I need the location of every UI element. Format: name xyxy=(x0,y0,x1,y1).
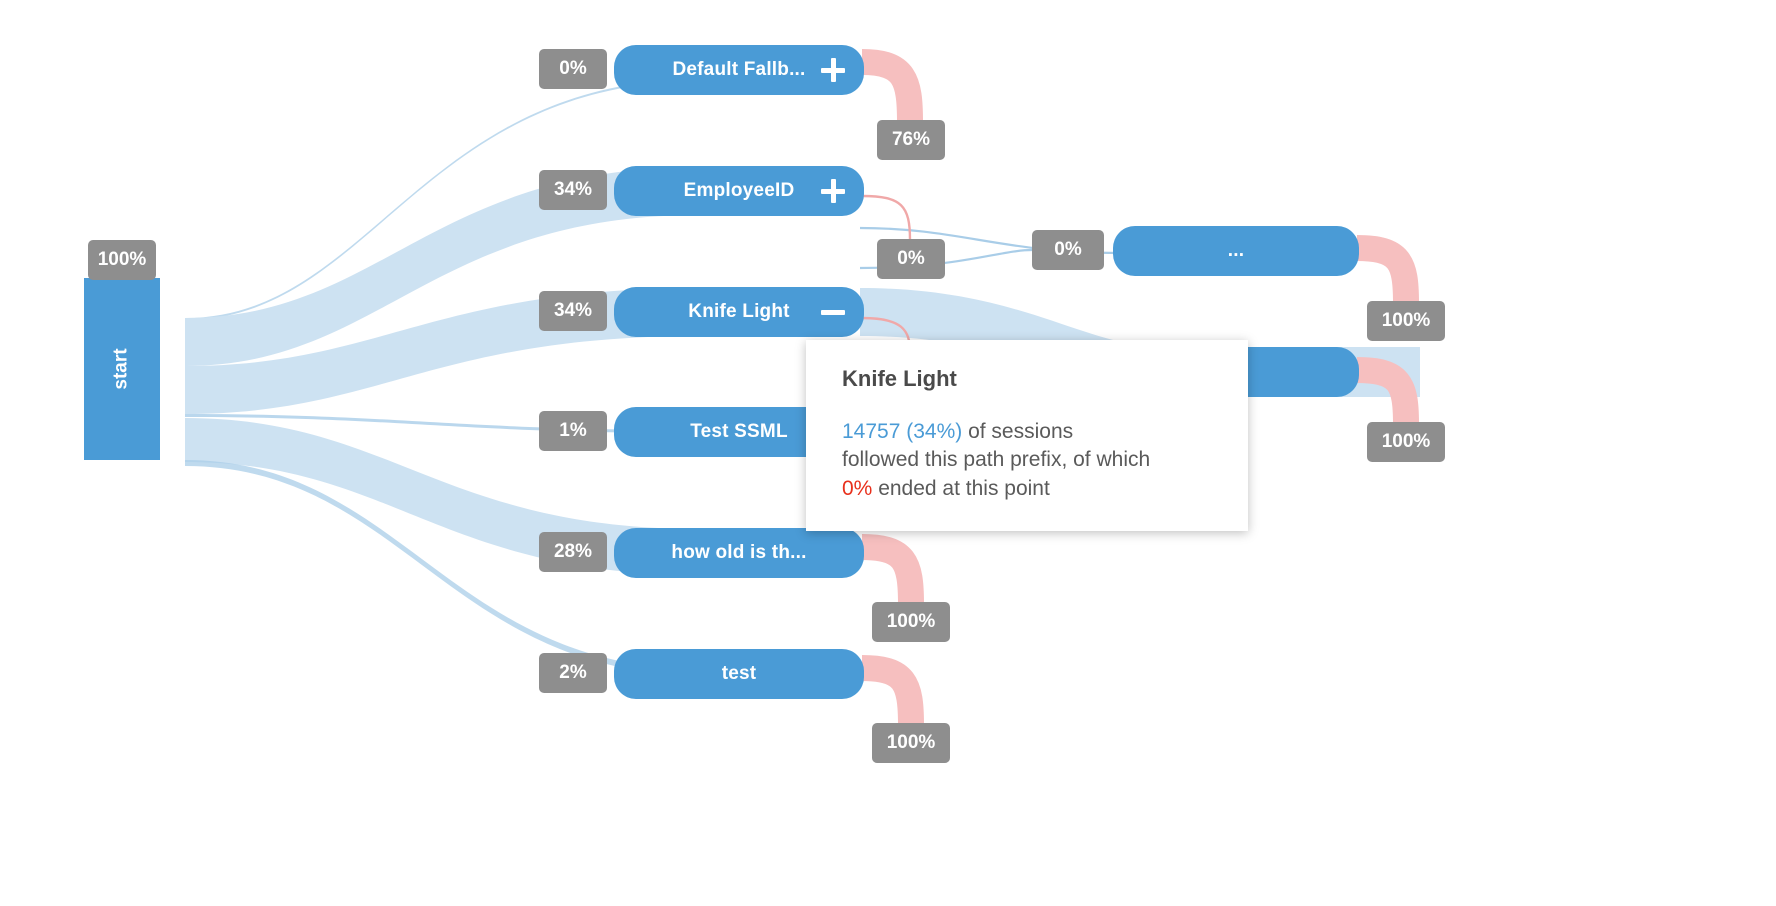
tooltip-title: Knife Light xyxy=(842,366,1218,392)
badge-test-ssml-in: 1% xyxy=(539,411,607,451)
dropoff-how-old xyxy=(862,547,911,604)
badge-knife-light-in: 34% xyxy=(539,291,607,331)
node-knife-light[interactable]: Knife Light xyxy=(614,287,864,337)
node-how-old-is-th[interactable]: how old is th... xyxy=(614,528,864,578)
badge-test-dropoff: 100% xyxy=(872,723,950,763)
dropoff-default-fallback xyxy=(862,62,910,122)
badge-ellipsis-top-dropoff: 100% xyxy=(1367,301,1445,341)
dropoff-ellipsis-top xyxy=(1357,248,1406,303)
badge-start-percent: 100% xyxy=(88,240,156,280)
dropoff-employee-id xyxy=(862,196,910,240)
collapse-minus-icon[interactable] xyxy=(820,299,846,325)
node-test-label: test xyxy=(614,663,864,685)
badge-default-fallback-in: 0% xyxy=(539,49,607,89)
tooltip-body: 14757 (34%) of sessions followed this pa… xyxy=(842,418,1218,503)
expand-plus-icon[interactable] xyxy=(820,57,846,83)
node-how-old-is-th-label: how old is th... xyxy=(614,542,864,564)
badge-employee-id-dropoff: 0% xyxy=(877,239,945,279)
tooltip-line2: followed this path prefix, of which xyxy=(842,448,1150,471)
badge-test-in: 2% xyxy=(539,653,607,693)
tooltip-line1-rest: of sessions xyxy=(962,420,1073,443)
tooltip-line3-rest: ended at this point xyxy=(872,477,1049,500)
dropoff-test xyxy=(862,668,911,725)
expand-plus-icon[interactable] xyxy=(820,178,846,204)
sankey-diagram-canvas: start 100% 0% Default Fallb... 76% 34% E… xyxy=(0,0,1776,906)
badge-how-old-dropoff: 100% xyxy=(872,602,950,642)
node-employee-id[interactable]: EmployeeID xyxy=(614,166,864,216)
node-start-label: start xyxy=(111,348,133,389)
tooltip-exit-percent: 0% xyxy=(842,477,872,500)
badge-mid-node-dropoff: 100% xyxy=(1367,422,1445,462)
node-ellipsis-top-label: ... xyxy=(1113,240,1359,262)
badge-how-old-in: 28% xyxy=(539,532,607,572)
tooltip-session-count: 14757 (34%) xyxy=(842,420,962,443)
badge-ellipsis-in: 0% xyxy=(1032,230,1104,270)
node-default-fallback[interactable]: Default Fallb... xyxy=(614,45,864,95)
badge-default-fallback-dropoff: 76% xyxy=(877,120,945,160)
node-ellipsis-top[interactable]: ... xyxy=(1113,226,1359,276)
node-tooltip: Knife Light 14757 (34%) of sessions foll… xyxy=(806,340,1248,531)
badge-employee-id-in: 34% xyxy=(539,170,607,210)
node-test[interactable]: test xyxy=(614,649,864,699)
node-start[interactable]: start xyxy=(84,278,160,460)
